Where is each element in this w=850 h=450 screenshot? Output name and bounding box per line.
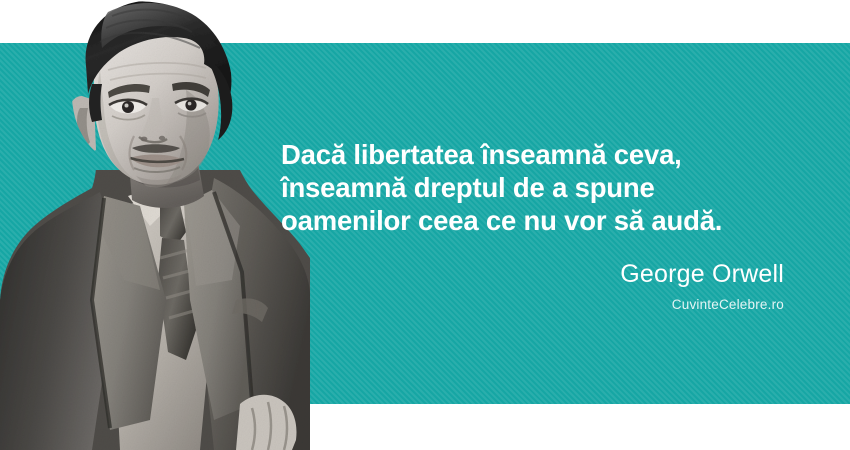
site-credit: CuvinteCelebre.ro — [384, 295, 784, 315]
portrait-george-orwell — [0, 0, 310, 450]
quote-line-3: oamenilor ceea ce nu vor să audă. — [281, 204, 801, 237]
author-name: George Orwell — [384, 259, 784, 289]
quote-line-2: înseamnă dreptul de a spune — [281, 171, 801, 204]
quote-card: Dacă libertatea înseamnă ceva, înseamnă … — [0, 0, 850, 450]
quote-line-1: Dacă libertatea înseamnă ceva, — [281, 138, 801, 171]
sideburn — [89, 84, 102, 122]
quote-text: Dacă libertatea înseamnă ceva, înseamnă … — [281, 138, 801, 237]
nostril-right — [159, 136, 165, 140]
nostril-left — [141, 137, 148, 142]
attribution: George Orwell CuvinteCelebre.ro — [384, 259, 784, 315]
portrait-figure — [0, 0, 310, 450]
